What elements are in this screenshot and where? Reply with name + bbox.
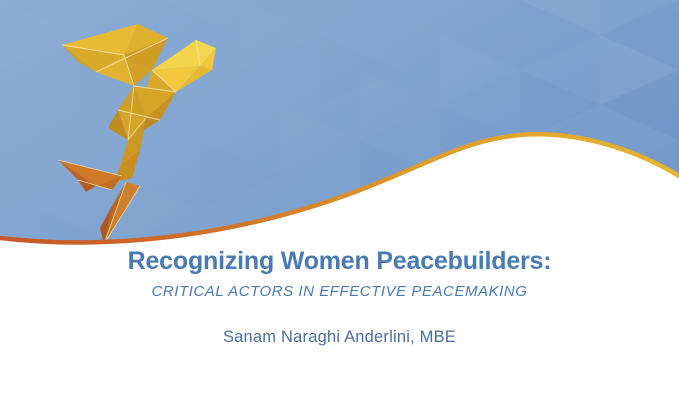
- title-text: Recognizing Women Peacebuilders:: [128, 248, 552, 276]
- author-name: Sanam Naraghi Anderlini, MBE: [223, 328, 456, 348]
- author-byline: Sanam Naraghi Anderlini, MBE: [0, 328, 679, 348]
- page-title: Recognizing Women Peacebuilders:: [0, 248, 679, 276]
- page-subtitle: CRITICAL ACTORS IN EFFECTIVE PEACEMAKING: [0, 283, 679, 301]
- subtitle-text: CRITICAL ACTORS IN EFFECTIVE PEACEMAKING: [152, 283, 528, 300]
- title-slide: Recognizing Women Peacebuilders: CRITICA…: [0, 0, 679, 401]
